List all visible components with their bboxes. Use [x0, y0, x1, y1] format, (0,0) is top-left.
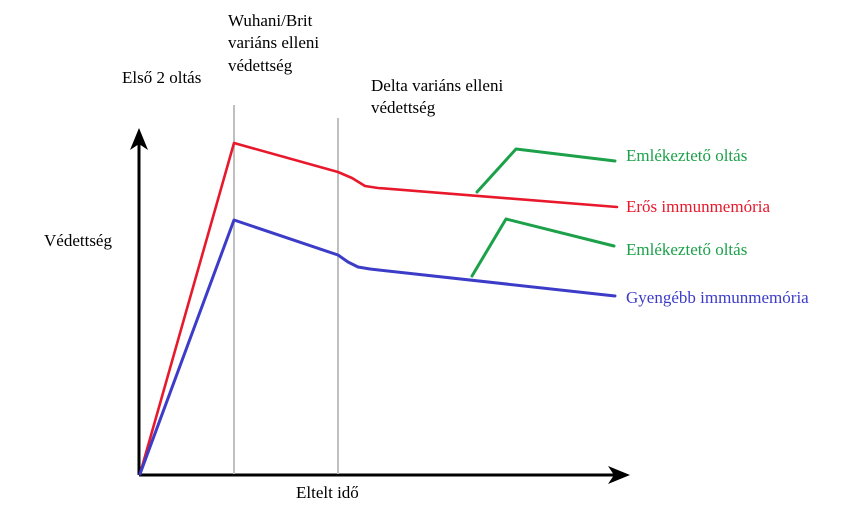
series-label-booster-dose-strong: Emlékeztető oltás: [626, 146, 747, 166]
series-label-strong-immune-memory: Erős immunmemória: [626, 197, 770, 217]
booster-dose-weak-line: [472, 219, 614, 276]
annotation-first-dose: Első 2 oltás: [122, 67, 201, 89]
series-booster-dose-weak: [472, 219, 614, 276]
annotation-delta-variant: Delta variáns elleni védettség: [371, 75, 503, 120]
x-axis-label: Eltelt idő: [296, 483, 359, 503]
vertical-marker-lines: [234, 105, 338, 474]
series-weaker-immune-memory: [140, 220, 615, 474]
booster-dose-strong-line: [477, 149, 615, 192]
annotation-wuhan-variant: Wuhani/Brit variáns elleni védettség: [228, 10, 319, 77]
strong-immune-memory-line: [140, 143, 617, 474]
weaker-immune-memory-line: [140, 220, 615, 474]
chart-figure: Első 2 oltás Wuhani/Brit variáns elleni …: [0, 0, 850, 515]
series-strong-immune-memory: [140, 143, 617, 474]
series-label-booster-dose-weak: Emlékeztető oltás: [626, 240, 747, 260]
series-booster-dose-strong: [477, 149, 615, 192]
chart-axes: [130, 128, 630, 484]
series-label-weaker-immune-memory: Gyengébb immunmemória: [626, 288, 809, 308]
y-axis-label: Védettség: [44, 231, 112, 251]
